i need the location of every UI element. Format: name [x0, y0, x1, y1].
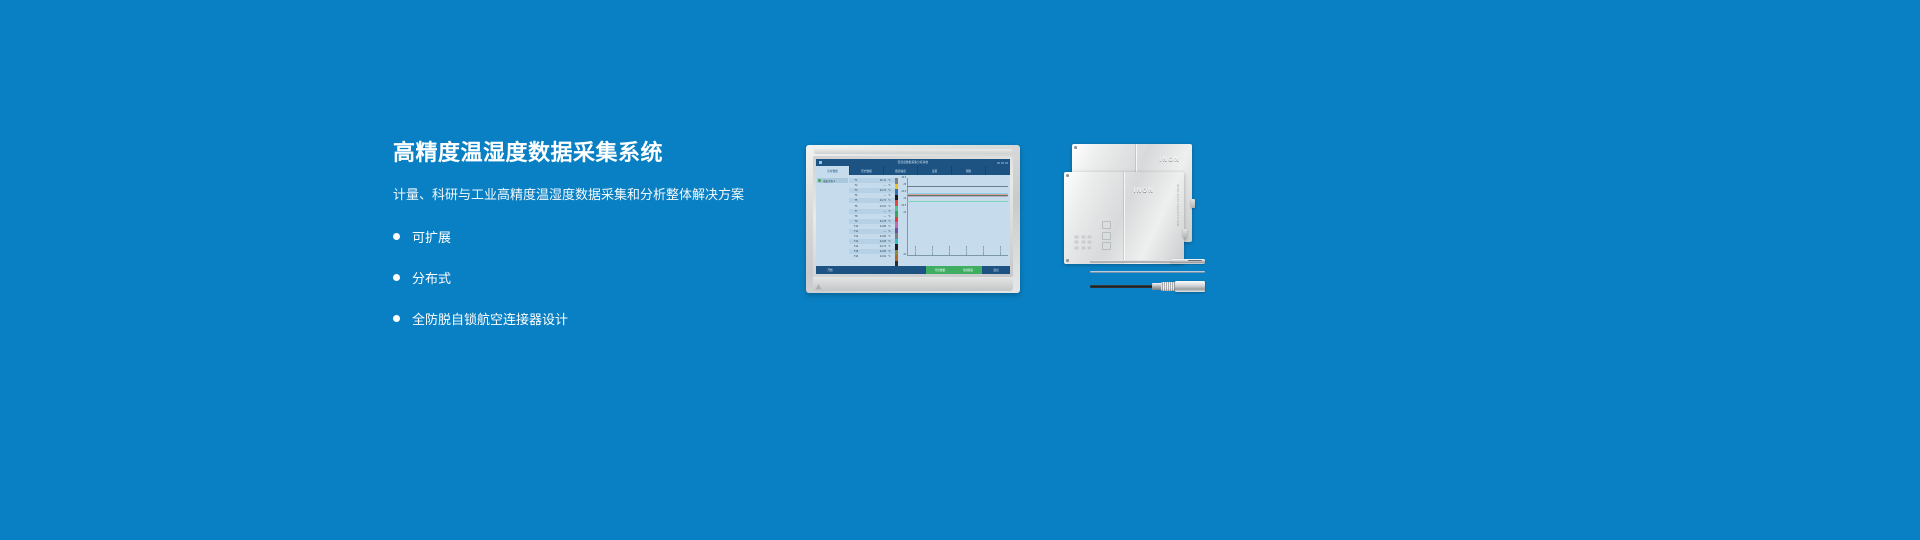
module-connector	[1183, 229, 1187, 238]
minimize-icon[interactable]	[997, 162, 1000, 164]
page-title: 高精度温湿度数据采集系统	[393, 140, 793, 166]
generate-report-button[interactable]: 生成报表	[954, 266, 982, 274]
feature-label: 可扩展	[412, 227, 451, 246]
panel-pc-monitor: 温湿度数据采集分析系统 实时数据 历史数据 报表输出 设置 帮助	[806, 145, 1020, 293]
channel-table[interactable]: T125.11℃T2---℃T324.74℃T4---℃T524.72℃T624…	[849, 175, 895, 266]
aviation-connector-probe	[1090, 280, 1205, 293]
chart-x-tick-label: 10:25:00	[932, 246, 934, 254]
channel-value: ---	[863, 184, 888, 187]
brand-label: INON	[1134, 188, 1155, 194]
chart-x-tick-label: 10:40:00	[983, 246, 985, 254]
channel-unit: ℃	[888, 215, 895, 218]
channel-name: T15	[849, 250, 863, 253]
channel-unit: ℃	[888, 179, 895, 182]
channel-name: T7	[849, 210, 863, 213]
terminal-block	[1074, 235, 1092, 250]
page-subtitle: 计量、科研与工业高精度温湿度数据采集和分析整体解决方案	[393, 186, 793, 204]
maximize-icon[interactable]	[1001, 162, 1004, 164]
channel-unit: ℃	[888, 225, 895, 228]
sensor-probes	[1090, 258, 1205, 298]
window-controls[interactable]	[997, 162, 1008, 164]
monitor-chin	[813, 277, 1013, 291]
chart-y-tick-label: 24.5	[902, 191, 906, 193]
exit-button[interactable]: 退出	[982, 266, 1010, 274]
chart-series-line	[907, 201, 1008, 202]
port-group	[1102, 221, 1111, 250]
channel-name: T2	[849, 184, 863, 187]
channel-unit: ℃	[888, 240, 895, 243]
bullet-dot-icon	[393, 233, 400, 240]
export-data-button[interactable]: 导出数据	[926, 266, 954, 274]
channel-unit: ℃	[888, 184, 895, 187]
app-titlebar: 温湿度数据采集分析系统	[816, 159, 1010, 166]
channel-unit: ℃	[888, 220, 895, 223]
acquisition-modules: INON INON INON DATA ACQUISITION	[1064, 144, 1214, 264]
chart-y-tick-label: 25.5	[902, 177, 906, 179]
channel-unit: ℃	[888, 235, 895, 238]
feature-item-2: 分布式	[393, 268, 793, 287]
main-tabs[interactable]: 实时数据 历史数据 报表输出 设置 帮助	[816, 166, 1010, 175]
chart-x-tick-label: 10:30:00	[949, 246, 951, 254]
channel-name: T3	[849, 189, 863, 192]
probe-cable	[1090, 285, 1153, 288]
vendor-logo-icon	[815, 283, 822, 290]
channel-name: T10	[849, 225, 863, 228]
channel-name: T6	[849, 205, 863, 208]
channel-unit: ℃	[888, 194, 895, 197]
monitor-screen: 温湿度数据采集分析系统 实时数据 历史数据 报表输出 设置 帮助	[816, 159, 1010, 274]
module-seam	[1124, 172, 1125, 264]
channel-value: 24.73	[863, 245, 888, 248]
channel-name: T13	[849, 240, 863, 243]
channel-name: T14	[849, 245, 863, 248]
status-indicator-icon	[818, 179, 821, 182]
device-tree-label: 采集主机-1	[823, 179, 835, 183]
channel-name: T8	[849, 215, 863, 218]
chart-x-axis: 10:20:0010:25:0010:30:0010:35:0010:40:00…	[907, 255, 1008, 256]
bullet-dot-icon	[393, 315, 400, 322]
feature-item-1: 可扩展	[393, 227, 793, 246]
device-tree-item[interactable]: 采集主机-1	[817, 178, 848, 183]
chart-y-tick-label: 23.5	[902, 205, 906, 207]
app-title: 温湿度数据采集分析系统	[816, 159, 1010, 166]
product-banner: 高精度温湿度数据采集系统 计量、科研与工业高精度温湿度数据采集和分析整体解决方案…	[0, 0, 1920, 540]
chart-y-tick-label: 23	[903, 212, 906, 214]
channel-name: T9	[849, 220, 863, 223]
channel-name: T1	[849, 179, 863, 182]
locking-nut	[1161, 282, 1176, 291]
tabs-filler	[986, 166, 1010, 175]
channel-value: 24.28	[863, 240, 888, 243]
channel-value: ---	[863, 230, 888, 233]
channel-value: 25.11	[863, 179, 888, 182]
channel-value: ---	[863, 210, 888, 213]
channel-name: T12	[849, 235, 863, 238]
bullet-dot-icon	[393, 274, 400, 281]
screw-icon	[1066, 174, 1069, 177]
chart-x-tick-label: 10:45:00	[1000, 246, 1002, 254]
banner-copy: 高精度温湿度数据采集系统 计量、科研与工业高精度温湿度数据采集和分析整体解决方案…	[393, 140, 793, 350]
channel-value: 24.72	[863, 199, 888, 202]
probe-shaft	[1090, 260, 1174, 262]
channel-value: 24.74	[863, 189, 888, 192]
channel-value: ---	[863, 215, 888, 218]
channel-name: T5	[849, 199, 863, 202]
module-connector	[1191, 199, 1195, 208]
start-button[interactable]: 开始	[816, 266, 844, 274]
channel-value: 24.94	[863, 255, 888, 258]
tab-realtime-data[interactable]: 实时数据	[816, 166, 850, 175]
channel-unit: ℃	[888, 210, 895, 213]
feature-label: 分布式	[412, 268, 451, 287]
tab-settings[interactable]: 设置	[918, 166, 952, 175]
chart-series-line	[907, 186, 1008, 187]
app-body: 采集主机-1 T125.11℃T2---℃T324.74℃T4---℃T524.…	[816, 175, 1010, 266]
close-icon[interactable]	[1005, 162, 1008, 164]
channel-value: ---	[863, 194, 888, 197]
temperature-probe-stainless	[1090, 258, 1205, 265]
tab-history-data[interactable]: 历史数据	[850, 166, 884, 175]
channel-value: 24.96	[863, 235, 888, 238]
tab-report-output[interactable]: 报表输出	[884, 166, 918, 175]
monitor-bezel: 温湿度数据采集分析系统 实时数据 历史数据 报表输出 设置 帮助	[813, 156, 1013, 277]
module-side-label: INON DATA ACQUISITION	[1176, 184, 1180, 226]
channel-name: T16	[849, 255, 863, 258]
channel-value: 24.96	[863, 250, 888, 253]
chart-y-tick-label: 25	[903, 184, 906, 186]
command-bar[interactable]: 开始 导出数据 生成报表 退出	[816, 266, 1010, 274]
probe-cable	[1090, 271, 1205, 273]
channel-unit: ℃	[888, 189, 895, 192]
feature-label: 全防脱自锁航空连接器设计	[412, 309, 568, 328]
channel-unit: ℃	[888, 250, 895, 253]
channel-unit: ℃	[888, 255, 895, 258]
device-tree[interactable]: 采集主机-1	[816, 175, 849, 266]
channel-value: 24.88	[863, 225, 888, 228]
connector-barrel	[1175, 281, 1205, 292]
chart-y-tick-label: 24	[903, 198, 906, 200]
brand-label: INON	[1159, 157, 1180, 163]
chart-x-tick-label: 10:35:00	[966, 246, 968, 254]
channel-value: 24.78	[863, 220, 888, 223]
channel-unit: ℃	[888, 245, 895, 248]
tab-help[interactable]: 帮助	[952, 166, 986, 175]
table-row[interactable]: T1624.94℃	[849, 254, 895, 259]
screw-icon	[1066, 259, 1069, 262]
command-bar-gap	[844, 266, 926, 274]
trend-chart[interactable]: 25.52524.52423.52320 10:20:0010:25:0010:…	[898, 175, 1010, 266]
monitor-top-vent	[814, 149, 1012, 154]
chart-series-line	[907, 196, 1008, 197]
screw-icon	[1074, 146, 1077, 149]
acquisition-module-front: INON INON DATA ACQUISITION	[1064, 172, 1184, 264]
chart-plot-area	[907, 178, 1008, 255]
channel-name: T4	[849, 194, 863, 197]
humidity-probe-cable	[1090, 270, 1205, 274]
channel-unit: ℃	[888, 205, 895, 208]
chart-y-tick-label: 20	[903, 254, 906, 256]
channel-value: 24.61	[863, 205, 888, 208]
channel-unit: ℃	[888, 230, 895, 233]
channel-name: T11	[849, 230, 863, 233]
feature-item-3: 全防脱自锁航空连接器设计	[393, 309, 793, 328]
channel-unit: ℃	[888, 199, 895, 202]
probe-slot	[1188, 260, 1202, 261]
